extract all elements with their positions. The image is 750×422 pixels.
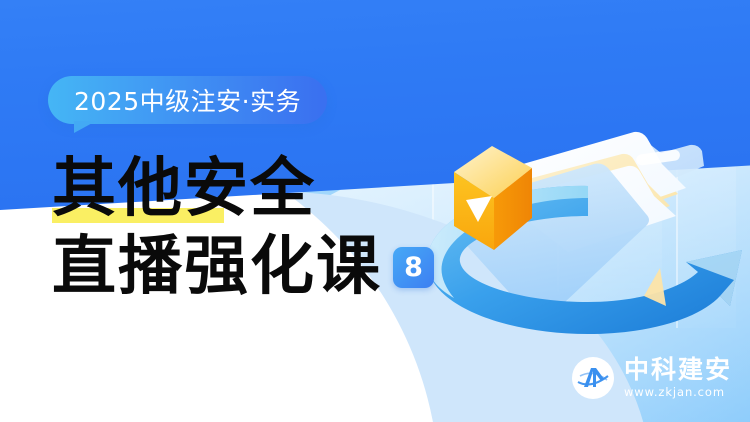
brand-name: 中科建安 (624, 356, 732, 383)
headline-line-2: 直播强化课 8 (52, 228, 434, 306)
headline-line2-text: 直播强化课 (52, 230, 382, 304)
brand-url: www.zkjan.com (624, 385, 732, 400)
course-category-badge[interactable]: 2025中级注安·实务 (48, 76, 327, 124)
course-category-label: 2025中级注安·实务 (74, 82, 301, 118)
episode-number-badge: 8 (393, 247, 434, 288)
brand-logo[interactable]: 中科建安 www.zkjan.com (571, 356, 732, 400)
wave-highlight (0, 0, 53, 13)
brand-text-block: 中科建安 www.zkjan.com (624, 356, 732, 400)
illustration-folder-arrow (398, 18, 750, 348)
badge-tail (74, 121, 96, 133)
headline-block: 其他安全 直播强化课 8 (52, 150, 434, 306)
zkjan-circle-arrow-icon (571, 356, 615, 400)
headline-line-1: 其他安全 (52, 150, 434, 228)
headline-line1-text: 其他安全 (52, 152, 316, 226)
course-banner: 2025中级注安·实务 其他安全 直播强化课 8 中科建安 www.zkjan.… (0, 0, 750, 422)
